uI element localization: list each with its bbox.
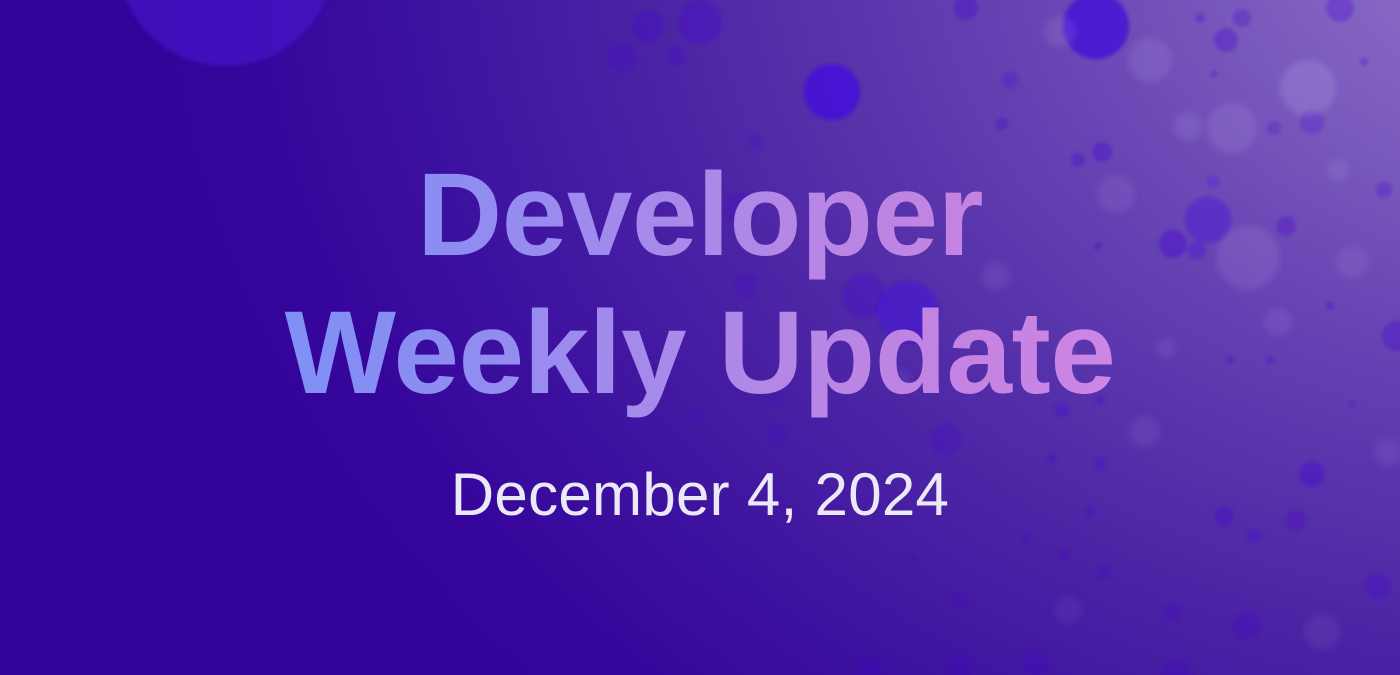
title-slide: Developer Weekly Update December 4, 2024	[0, 0, 1400, 675]
page-title: Developer Weekly Update	[285, 146, 1116, 422]
slide-content: Developer Weekly Update December 4, 2024	[0, 0, 1400, 675]
slide-date: December 4, 2024	[451, 460, 949, 529]
title-line-2: Weekly Update	[285, 284, 1116, 422]
title-line-1: Developer	[285, 146, 1116, 284]
